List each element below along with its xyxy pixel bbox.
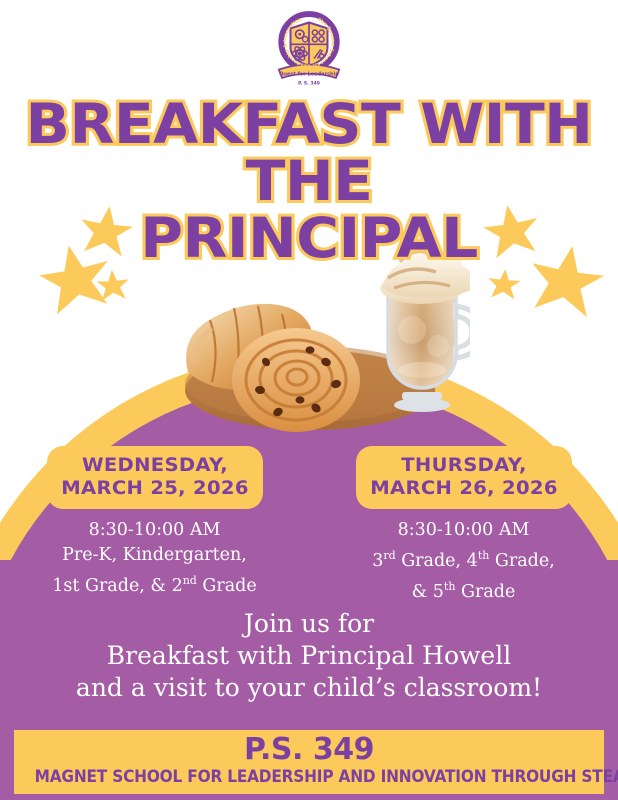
- grades-text: 1st Grade, & 2: [52, 576, 182, 596]
- grades-ordinal-suffix-2: th: [478, 549, 490, 562]
- session-grades-thursday-line1: 3rd Grade, 4th Grade,: [309, 543, 618, 574]
- session-grades-wednesday-line1: Pre-K, Kindergarten,: [0, 543, 309, 568]
- school-crest-logo: Quest for Leadership P. S. 349 The Queen…: [267, 4, 351, 88]
- grades-ordinal-suffix: rd: [383, 549, 395, 562]
- invitation-line-1: Join us for: [0, 608, 618, 640]
- grades-text-tail: Grade: [455, 582, 515, 602]
- invitation-line-2: Breakfast with Principal Howell: [0, 640, 618, 672]
- session-details-wednesday: 8:30-10:00 AM Pre-K, Kindergarten, 1st G…: [0, 518, 309, 599]
- crest-ribbon-text: P. S. 349: [298, 81, 320, 87]
- session-columns: Wednesday, March 25, 2026 8:30-10:00 AM …: [0, 446, 618, 605]
- session-grades-wednesday-line2: 1st Grade, & 2nd Grade: [0, 568, 309, 599]
- date-pill-wednesday: Wednesday, March 25, 2026: [47, 446, 263, 509]
- session-column-wednesday: Wednesday, March 25, 2026 8:30-10:00 AM …: [0, 446, 309, 605]
- grades-ordinal-suffix: th: [444, 580, 456, 593]
- page-title: Breakfast With The Principal: [0, 96, 618, 267]
- session-day-thursday: Thursday,: [369, 454, 559, 477]
- footer-band: P.S. 349 Magnet School for Leadership an…: [14, 730, 604, 794]
- session-time-thursday: 8:30-10:00 AM: [309, 518, 618, 543]
- star-left-small: [96, 269, 130, 301]
- date-pill-thursday: Thursday, March 26, 2026: [356, 446, 572, 509]
- grades-text: 3: [372, 551, 383, 571]
- session-column-thursday: Thursday, March 26, 2026 8:30-10:00 AM 3…: [309, 446, 618, 605]
- invitation-line-3: and a visit to your child’s classroom!: [0, 672, 618, 704]
- flyer-canvas: Quest for Leadership P. S. 349 The Queen…: [0, 0, 618, 800]
- star-right-small: [487, 268, 522, 300]
- school-tagline: Magnet School for Leadership and Innovat…: [35, 767, 584, 787]
- invitation-text: Join us for Breakfast with Principal How…: [0, 608, 618, 704]
- grades-text-tail: Grade,: [489, 551, 554, 571]
- session-grades-thursday-line2: & 5th Grade: [309, 574, 618, 605]
- title-line-1: Breakfast With The: [0, 96, 618, 210]
- raisin-swirl-bun: [232, 328, 360, 432]
- session-time-wednesday: 8:30-10:00 AM: [0, 518, 309, 543]
- title-line-2: Principal: [0, 210, 618, 267]
- grades-text-tail: Grade: [197, 576, 257, 596]
- grades-ordinal-suffix: nd: [183, 574, 197, 587]
- grades-text-mid: Grade, 4: [396, 551, 478, 571]
- session-date-thursday: March 26, 2026: [369, 477, 559, 500]
- grades-text: & 5: [412, 582, 444, 602]
- session-details-thursday: 8:30-10:00 AM 3rd Grade, 4th Grade, & 5t…: [309, 518, 618, 605]
- cup-handle: [456, 306, 470, 358]
- session-date-wednesday: March 25, 2026: [60, 477, 250, 500]
- crest-banner-text: Quest for Leadership: [279, 71, 339, 77]
- school-name: P.S. 349: [14, 730, 604, 767]
- session-day-wednesday: Wednesday,: [60, 454, 250, 477]
